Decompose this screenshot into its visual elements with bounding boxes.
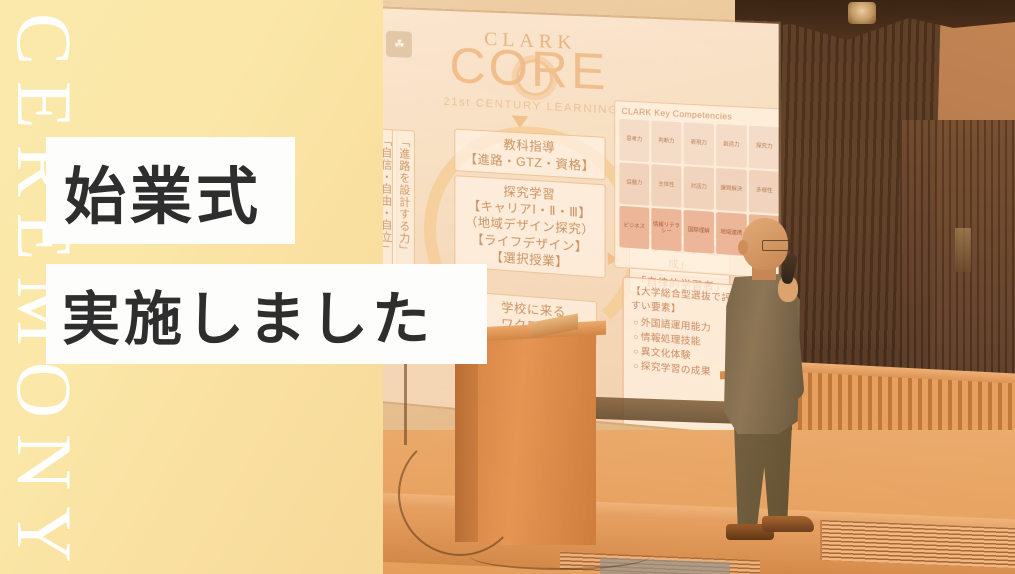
wall-light-icon xyxy=(955,228,971,272)
competency-cell: 表現力 xyxy=(684,122,714,165)
competency-cell: 多様性 xyxy=(749,170,779,214)
competency-cell: 国際理解 xyxy=(684,210,714,254)
floor-cable-secondary xyxy=(470,542,650,570)
competency-cell: 探究力 xyxy=(749,126,779,170)
competency-cell: 課題解決 xyxy=(716,168,747,212)
competency-cell: ビジネス xyxy=(619,206,649,249)
slide-title: CORE xyxy=(416,40,644,101)
competency-row: 思考力 判断力 表現力 創造力 探究力 xyxy=(619,119,778,170)
headline-line-1: 始業式 xyxy=(46,137,295,244)
competency-cell: 対話力 xyxy=(684,166,714,210)
headline-line-2: 実施しました xyxy=(46,264,487,364)
clark-crest-icon: ☘ xyxy=(386,31,412,58)
competency-row: 協働力 主体性 対話力 課題解決 多様性 xyxy=(619,162,778,214)
slide-box-inquiry-learning: 探究学習 【キャリアⅠ・Ⅱ・Ⅲ】 （地域デザイン探究） 【ライフデザイン】 【選… xyxy=(454,175,605,278)
competency-cell: 創造力 xyxy=(716,124,747,168)
competency-cell: 思考力 xyxy=(619,119,649,162)
speaker-figure xyxy=(718,218,838,548)
ceiling-light-icon xyxy=(848,2,876,24)
competency-cell: 主体性 xyxy=(651,164,681,207)
speaker-ear xyxy=(738,240,748,255)
glasses-icon xyxy=(762,240,790,251)
speaker-shoe-right xyxy=(762,516,814,532)
arrow-down-icon xyxy=(512,115,529,128)
floor-cable xyxy=(398,432,522,556)
competency-cell: 情報リテラシー xyxy=(651,208,681,252)
floor-vent-grille xyxy=(820,520,1015,568)
banner-canvas: ☘ CLARK CORE 21st CENTURY LEARNING 「自信・自… xyxy=(0,0,1015,574)
competency-cell: 判断力 xyxy=(651,121,681,164)
competency-cell: 協働力 xyxy=(619,162,649,205)
